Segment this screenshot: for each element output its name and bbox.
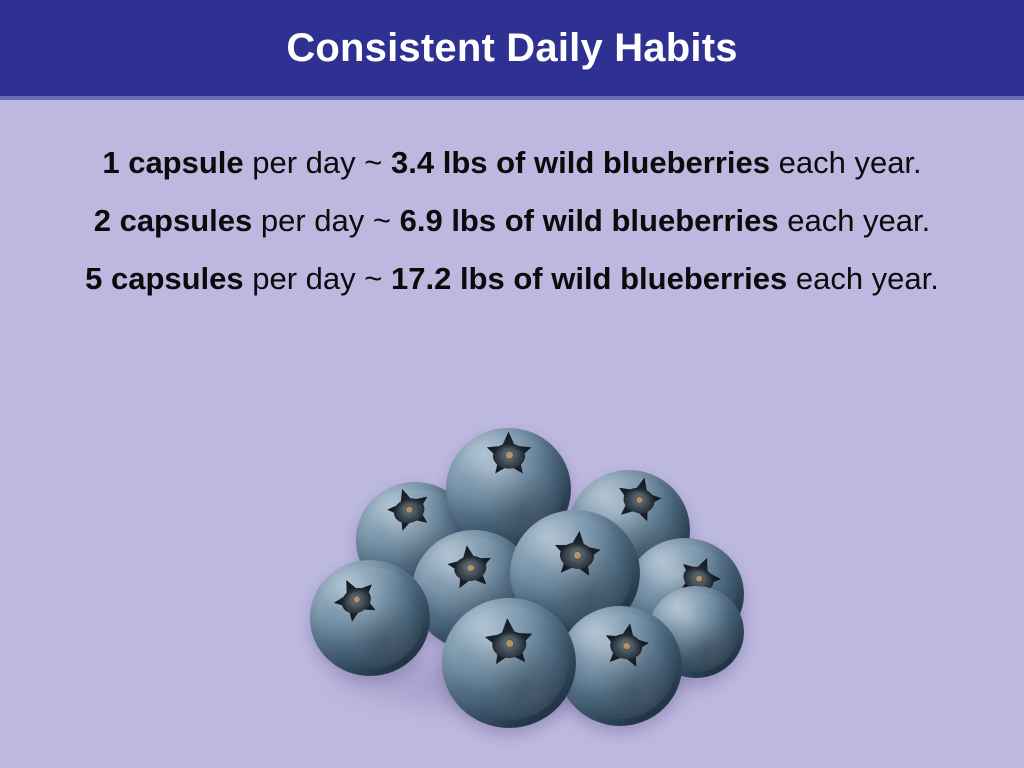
slide: Consistent Daily Habits 1 capsule per da… bbox=[0, 0, 1024, 768]
header-divider bbox=[0, 96, 1024, 100]
blueberry bbox=[558, 606, 682, 726]
statement-dose: 1 capsule bbox=[102, 145, 243, 180]
statement-equivalent: 17.2 lbs of wild blueberries bbox=[391, 261, 787, 296]
blueberry-calyx-icon bbox=[442, 541, 498, 595]
blueberry-calyx-icon bbox=[549, 527, 606, 583]
statement-row: 5 capsules per day ~ 17.2 lbs of wild bl… bbox=[85, 254, 939, 304]
statement-list: 1 capsule per day ~ 3.4 lbs of wild blue… bbox=[0, 138, 1024, 304]
statement-dose: 2 capsules bbox=[94, 203, 253, 238]
blueberry-calyx-icon bbox=[484, 431, 534, 480]
blueberry bbox=[310, 560, 430, 676]
statement-row: 2 capsules per day ~ 6.9 lbs of wild blu… bbox=[94, 196, 931, 246]
blueberry-pile-image bbox=[296, 420, 744, 750]
statement-connector: per day ~ bbox=[252, 203, 399, 238]
statement-equivalent: 3.4 lbs of wild blueberries bbox=[391, 145, 770, 180]
statement-tail: each year. bbox=[770, 145, 922, 180]
statement-connector: per day ~ bbox=[244, 261, 391, 296]
statement-row: 1 capsule per day ~ 3.4 lbs of wild blue… bbox=[102, 138, 921, 188]
blueberry-calyx-icon bbox=[597, 618, 654, 674]
statement-dose: 5 capsules bbox=[85, 261, 244, 296]
statement-connector: per day ~ bbox=[244, 145, 391, 180]
statement-tail: each year. bbox=[779, 203, 931, 238]
statement-tail: each year. bbox=[787, 261, 939, 296]
blueberry-calyx-icon bbox=[480, 615, 537, 671]
blueberry bbox=[442, 598, 576, 728]
slide-header: Consistent Daily Habits bbox=[0, 0, 1024, 96]
blueberry-calyx-icon bbox=[324, 569, 387, 632]
blueberry-calyx-icon bbox=[610, 471, 669, 529]
page-title: Consistent Daily Habits bbox=[266, 28, 757, 68]
blueberry-calyx-icon bbox=[379, 481, 438, 540]
statement-equivalent: 6.9 lbs of wild blueberries bbox=[400, 203, 779, 238]
